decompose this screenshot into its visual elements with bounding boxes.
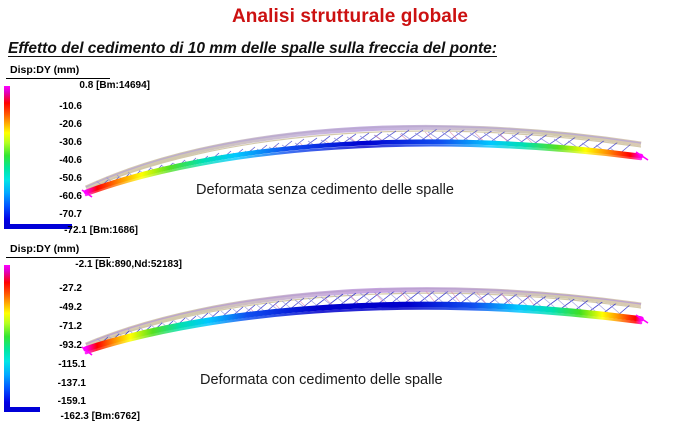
page-subtitle: Effetto del cedimento di 10 mm delle spa…	[8, 40, 497, 58]
plot-block-with-settlement: Disp:DY (mm) -2.1 [Bk:890,Nd:52183] -27.…	[0, 243, 700, 423]
bridge-deformation-render-2	[0, 243, 700, 423]
bridge-arch-rib-2	[86, 289, 641, 347]
bridge-arch-rib-1	[86, 126, 641, 190]
page-title: Analisi strutturale globale	[0, 6, 700, 28]
plot-caption-2: Deformata con cedimento delle spalle	[200, 372, 443, 388]
plot-caption-1: Deformata senza cedimento delle spalle	[196, 182, 454, 198]
plot-block-no-settlement: Disp:DY (mm) 0.8 [Bm:14694] -10.6 -20.6 …	[0, 64, 700, 236]
bridge-deck-2	[86, 305, 641, 353]
bridge-deformation-render-1	[0, 64, 700, 236]
